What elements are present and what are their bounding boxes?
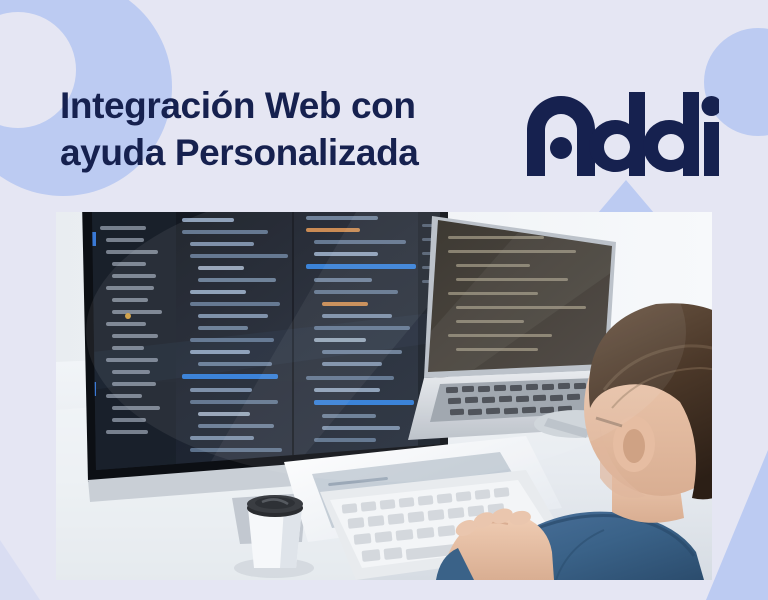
page-title: Integración Web con ayuda Personalizada [60,82,490,177]
hero-photo [56,212,712,580]
headline-line-1: Integración Web con [60,82,490,129]
wedge-decoration-bottom-left [0,540,40,600]
promo-banner: Integración Web con ayuda Personalizada [0,0,768,600]
headline-line-2: ayuda Personalizada [60,129,490,176]
triangle-decoration-bottom-right [706,450,768,600]
addi-logo [523,92,719,176]
banner-header: Integración Web con ayuda Personalizada [0,0,768,212]
